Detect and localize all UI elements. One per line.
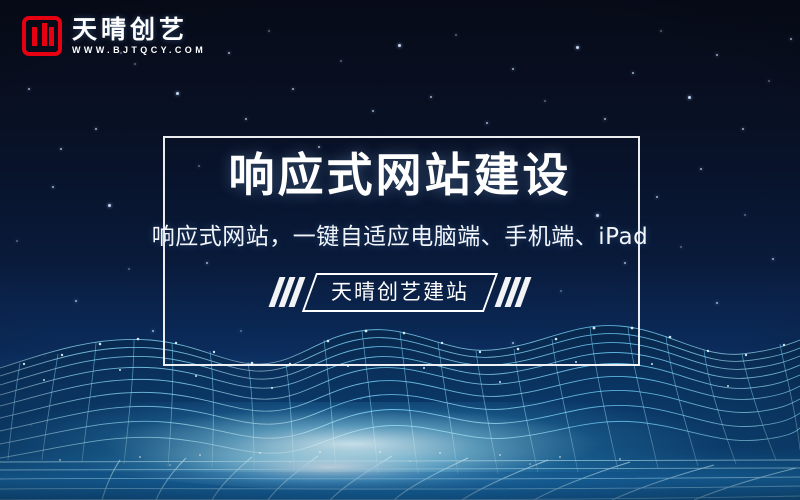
hero-subtitle: 响应式网站，一键自适应电脑端、手机端、iPad [152,226,648,249]
hero-banner: 天晴创艺 WWW.BJTQCY.COM 响应式网站建设 响应式网站，一键自适应电… [0,0,800,500]
triple-slash-icon-left [274,277,300,307]
triple-slash-icon-right [500,277,526,307]
brand-logo-text: 天晴创艺 WWW.BJTQCY.COM [72,17,206,56]
hero-title: 响应式网站建设 [229,152,572,198]
hero-badge-row: 天晴创艺建站 [274,273,526,312]
brand-name: 天晴创艺 [72,17,206,44]
brand-website: WWW.BJTQCY.COM [72,46,206,55]
hero-badge-label: 天晴创艺建站 [331,280,469,305]
logo-mark-icon [22,16,62,56]
hero-badge[interactable]: 天晴创艺建站 [302,273,498,312]
brand-logo[interactable]: 天晴创艺 WWW.BJTQCY.COM [22,16,206,56]
hero-content: 响应式网站建设 响应式网站，一键自适应电脑端、手机端、iPad 天晴创艺建站 [110,152,690,312]
